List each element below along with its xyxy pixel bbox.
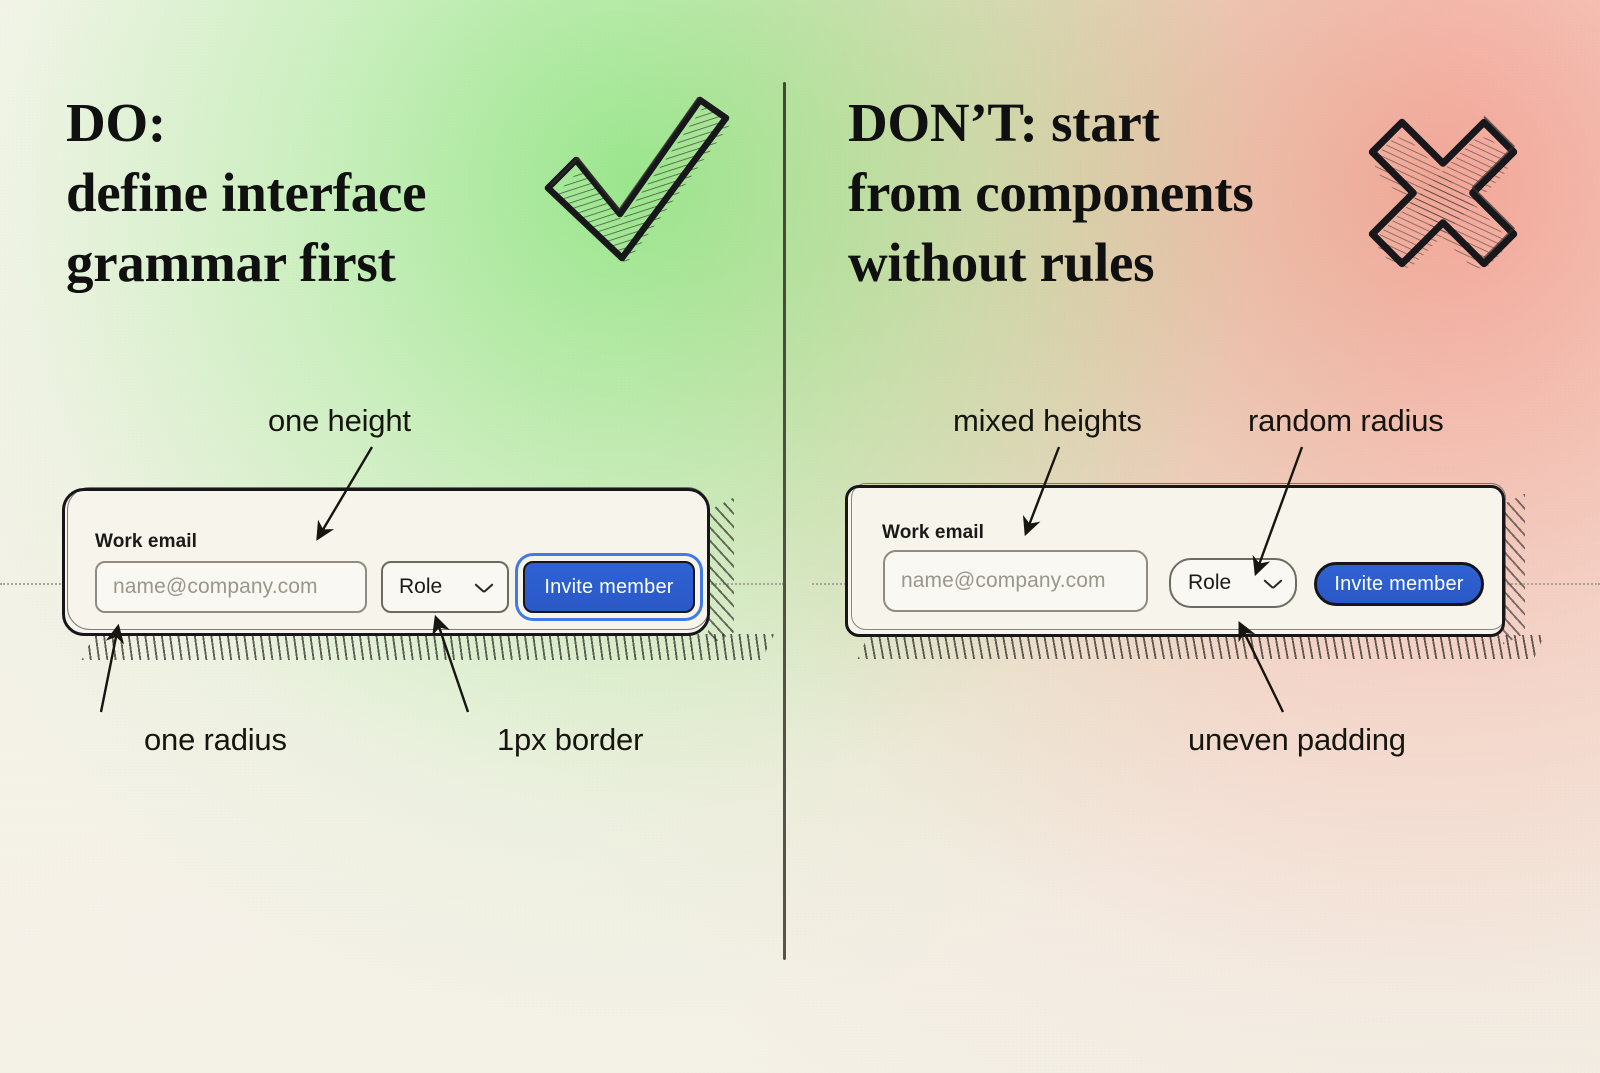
- headline-do: DO: define interface grammar first: [66, 88, 426, 298]
- card-shadow-hatch: [1503, 494, 1525, 645]
- invite-form-card-do: Work email name@company.com Role Invite …: [62, 488, 752, 663]
- email-field-placeholder: name@company.com: [901, 569, 1106, 593]
- card-shadow-hatch: [82, 634, 775, 660]
- chevron-down-icon: [475, 582, 493, 593]
- panel-do: DO: define interface grammar first: [0, 0, 783, 1073]
- annotation-1px-border: 1px border: [497, 722, 643, 758]
- invite-member-button[interactable]: Invite member: [1314, 562, 1484, 606]
- annotation-mixed-heights: mixed heights: [953, 403, 1142, 439]
- check-icon: [518, 68, 768, 318]
- email-field[interactable]: name@company.com: [883, 550, 1148, 612]
- card-shadow-hatch: [708, 497, 734, 645]
- annotation-one-height: one height: [268, 403, 411, 439]
- panel-divider: [783, 82, 786, 960]
- annotation-one-radius: one radius: [144, 722, 287, 758]
- cross-icon: [1318, 68, 1568, 318]
- headline-dont: DON’T: start from components without rul…: [848, 88, 1253, 298]
- role-select-value: Role: [1188, 571, 1231, 595]
- work-email-label: Work email: [95, 531, 197, 553]
- email-field-placeholder: name@company.com: [113, 575, 318, 599]
- annotation-random-radius: random radius: [1248, 403, 1444, 439]
- work-email-label: Work email: [882, 522, 984, 544]
- invite-member-button-label: Invite member: [1334, 573, 1463, 596]
- chevron-down-icon: [1264, 578, 1282, 589]
- role-select[interactable]: Role: [1169, 558, 1297, 608]
- invite-member-button[interactable]: Invite member: [523, 561, 695, 613]
- email-field[interactable]: name@company.com: [95, 561, 367, 613]
- panel-dont: DON’T: start from components without rul…: [786, 0, 1600, 1073]
- card-shadow-hatch: [858, 635, 1545, 659]
- role-select[interactable]: Role: [381, 561, 509, 613]
- invite-member-button-label: Invite member: [544, 576, 673, 599]
- role-select-value: Role: [399, 575, 442, 599]
- invite-form-card-dont: Work email name@company.com Role Invite …: [845, 485, 1525, 663]
- annotation-uneven-padding: uneven padding: [1188, 722, 1406, 758]
